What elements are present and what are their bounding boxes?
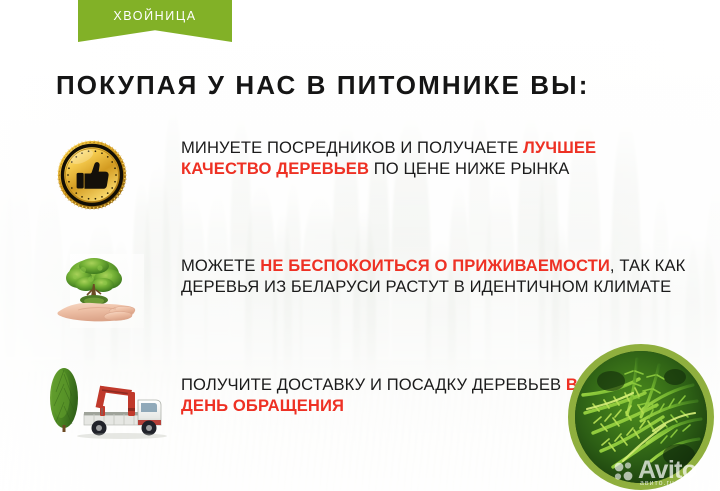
plain-text: МОЖЕТЕ: [181, 256, 260, 275]
crane-truck-with-conifer-icon: [42, 362, 168, 440]
promo-banner: ХВОЙНИЦА ПОКУПАЯ У НАС В ПИТОМНИКЕ ВЫ:: [0, 0, 720, 491]
benefit-text-1: МИНУЕТЕ ПОСРЕДНИКОВ И ПОЛУЧАЕТЕ ЛУЧШЕЕ К…: [181, 138, 681, 179]
avito-logo-icon: [612, 459, 636, 483]
tree-in-hand-icon: [48, 252, 152, 336]
emphasis-text: НЕ БЕСПОКОИТЬСЯ О ПРИЖИВАЕМОСТИ: [260, 256, 610, 275]
benefit-row-2: МОЖЕТЕ НЕ БЕСПОКОИТЬСЯ О ПРИЖИВАЕМОСТИ, …: [181, 256, 691, 297]
plain-text: ПО ЦЕНЕ НИЖЕ РЫНКА: [369, 159, 569, 178]
plain-text: МИНУЕТЕ ПОСРЕДНИКОВ И ПОЛУЧАЕТЕ: [181, 138, 523, 157]
avito-watermark-subtext: авито.ru: [640, 480, 675, 487]
benefit-text-3: ПОЛУЧИТЕ ДОСТАВКУ И ПОСАДКУ ДЕРЕВЬЕВ В Д…: [181, 375, 601, 416]
benefit-row-3: ПОЛУЧИТЕ ДОСТАВКУ И ПОСАДКУ ДЕРЕВЬЕВ В Д…: [181, 375, 601, 416]
page-title: ПОКУПАЯ У НАС В ПИТОМНИКЕ ВЫ:: [56, 70, 589, 101]
benefit-text-2: МОЖЕТЕ НЕ БЕСПОКОИТЬСЯ О ПРИЖИВАЕМОСТИ, …: [181, 256, 691, 297]
benefit-row-1: МИНУЕТЕ ПОСРЕДНИКОВ И ПОЛУЧАЕТЕ ЛУЧШЕЕ К…: [181, 138, 681, 179]
brand-ribbon-label: ХВОЙНИЦА: [113, 0, 196, 23]
plain-text: ПОЛУЧИТЕ ДОСТАВКУ И ПОСАДКУ ДЕРЕВЬЕВ: [181, 375, 566, 394]
gold-thumbs-up-badge-icon: [57, 140, 127, 210]
